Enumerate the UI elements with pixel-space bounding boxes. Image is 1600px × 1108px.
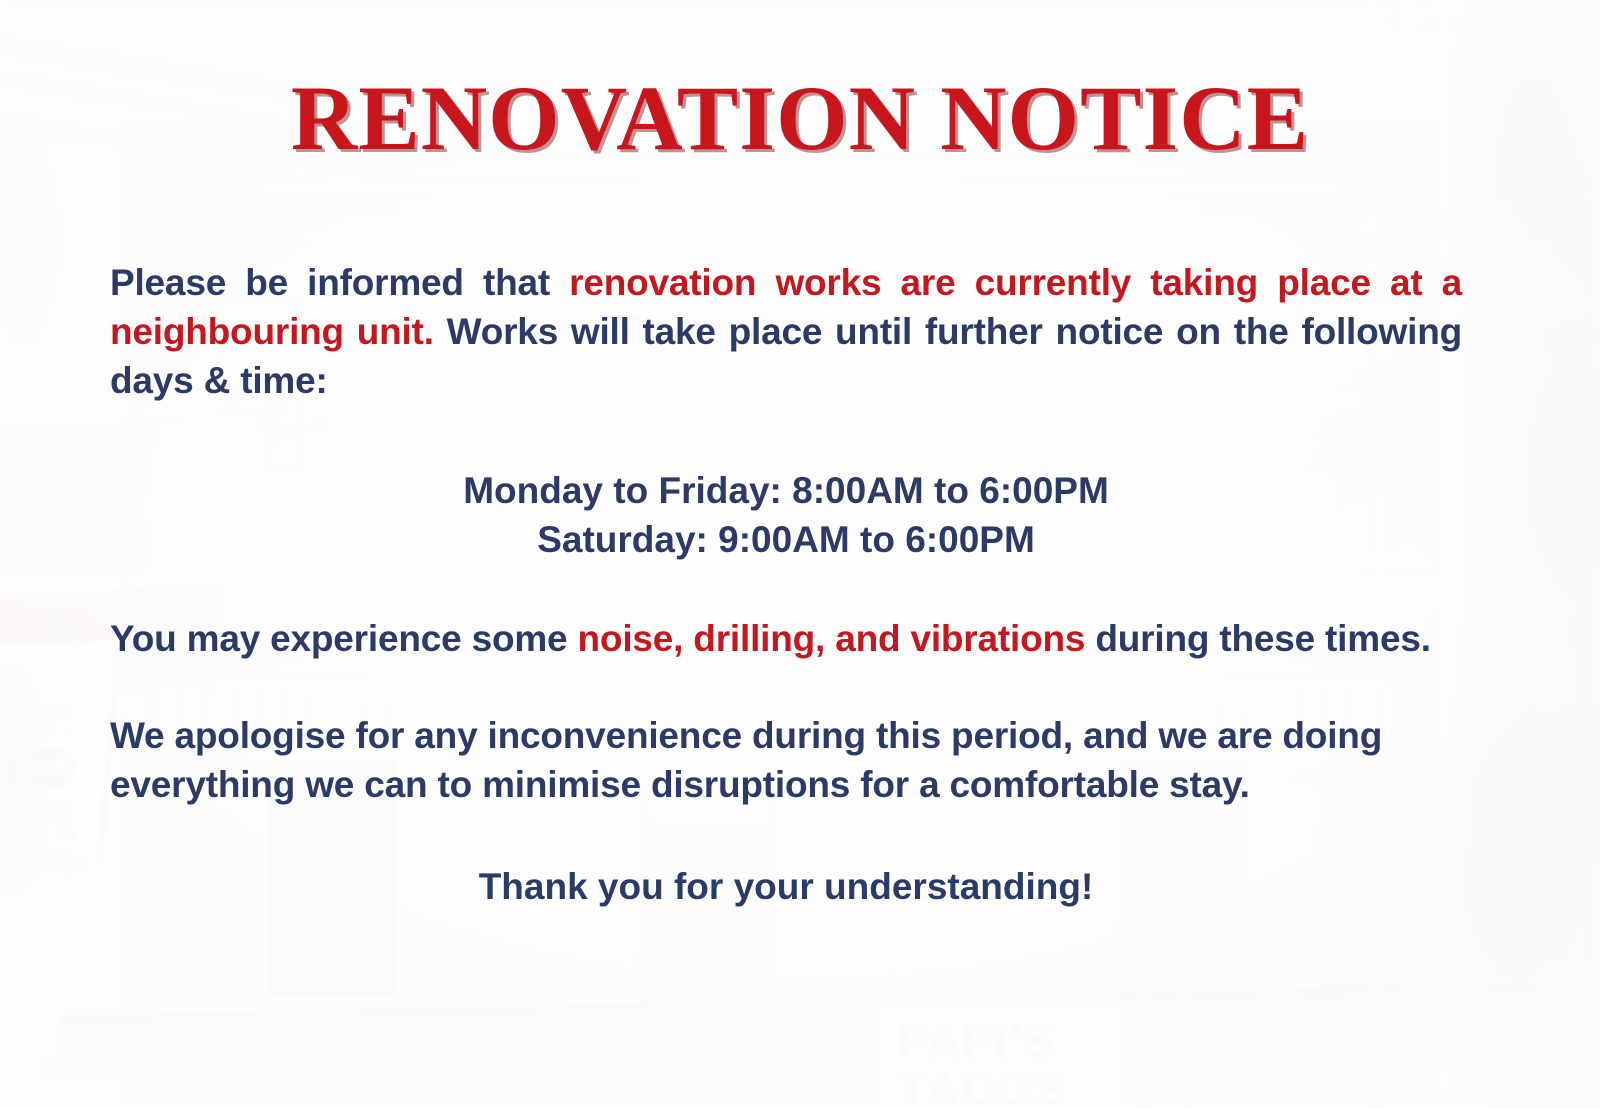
spacer-1 (110, 406, 1462, 466)
paragraph-1: Please be informed that renovation works… (110, 258, 1462, 406)
paragraph-2-segment-1: You may experience some (110, 618, 578, 659)
notice-content: RENOVATION NOTICE Please be informed tha… (0, 0, 1600, 1108)
notice-body: Please be informed that renovation works… (110, 258, 1462, 911)
notice-title: RENOVATION NOTICE (0, 72, 1600, 164)
paragraph-2-segment-3: during these times. (1085, 618, 1431, 659)
renovation-notice-poster: sort PAPI'S TACOS RENOVATION NOTICE (0, 0, 1600, 1108)
spacer-2 (110, 564, 1462, 614)
paragraph-2-highlight: noise, drilling, and vibrations (578, 618, 1086, 659)
spacer-3 (110, 663, 1462, 711)
closing-line: Thank you for your understanding! (110, 862, 1462, 911)
schedule-line-saturday: Saturday: 9:00AM to 6:00PM (110, 515, 1462, 564)
schedule-line-weekday: Monday to Friday: 8:00AM to 6:00PM (110, 466, 1462, 515)
paragraph-3: We apologise for any inconvenience durin… (110, 711, 1462, 809)
paragraph-2: You may experience some noise, drilling,… (110, 614, 1462, 663)
paragraph-1-segment-1: Please be informed that (110, 262, 569, 303)
spacer-4 (110, 810, 1462, 862)
